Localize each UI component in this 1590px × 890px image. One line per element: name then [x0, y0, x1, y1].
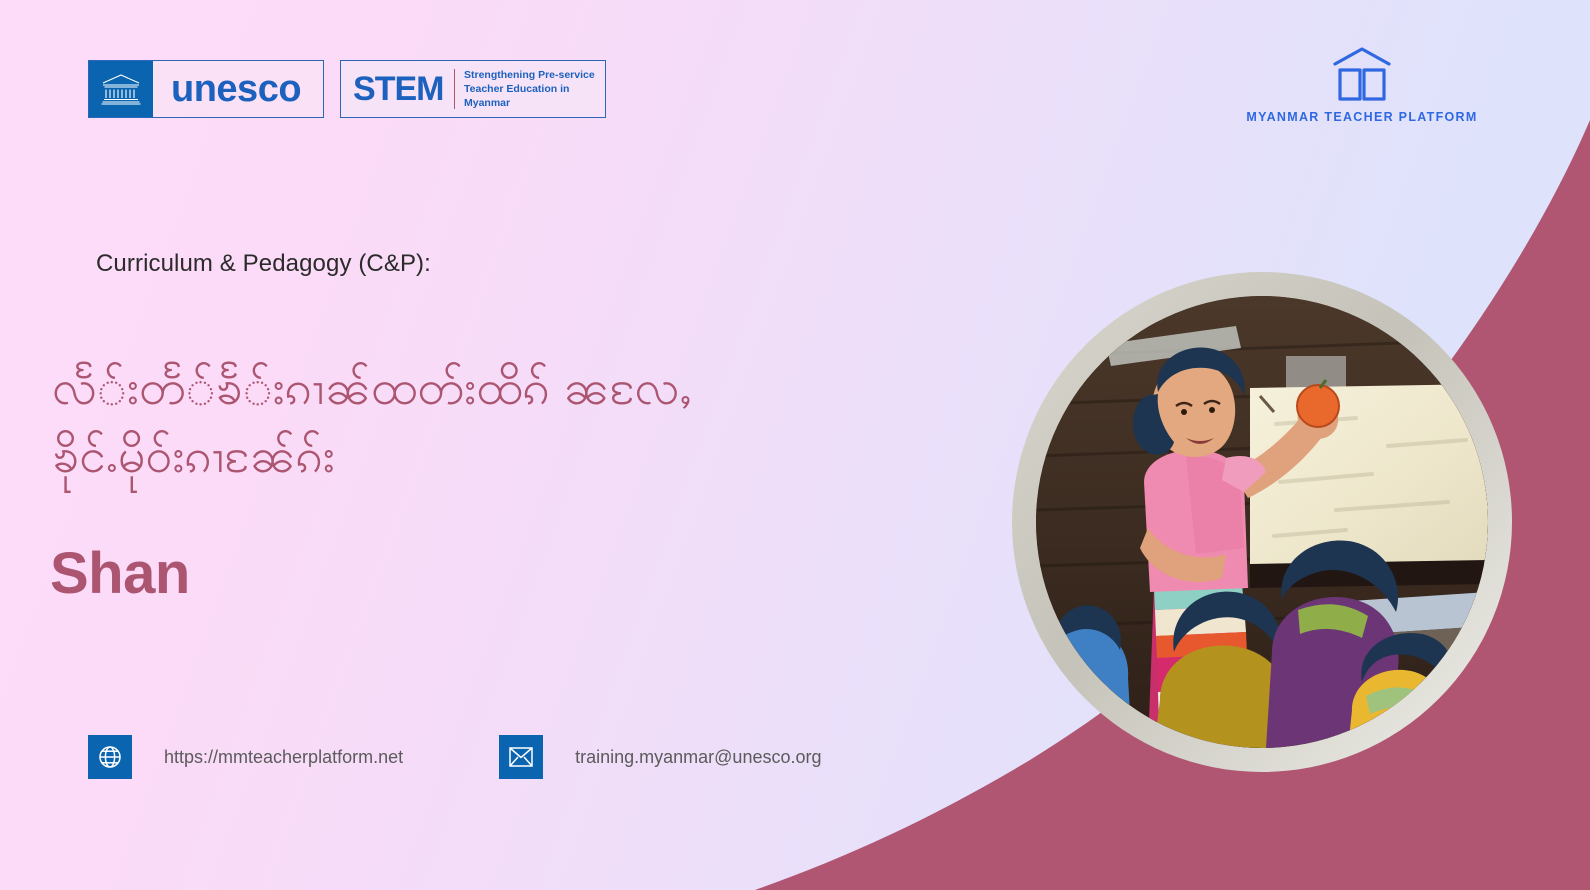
unesco-wordmark: unesco: [153, 61, 323, 117]
stem-tagline-line-1: Strengthening Pre-service: [464, 68, 595, 82]
title-native-line-2: ၶိုင်ႉမိုဝ်းၵၢၼ်ႄၵ်း: [52, 423, 892, 491]
footer-contacts: https://mmteacherplatform.net training.m…: [88, 735, 822, 779]
title-native: လႅ်းတႅ်ၶႅ်းၵၢၼ်ထတ်းထိၵ် ၼလႄႇ ၶိုင်ႉမိုဝ်…: [52, 355, 892, 491]
globe-glyph: [97, 744, 123, 770]
envelope-glyph: [508, 746, 534, 768]
slide-canvas: unesco STEM Strengthening Pre-service Te…: [0, 0, 1590, 890]
contact-website[interactable]: https://mmteacherplatform.net: [88, 735, 403, 779]
classroom-illustration: [1036, 296, 1488, 748]
title-native-line-1: လႅ်းတႅ်ၶႅ်းၵၢၼ်ထတ်းထိၵ် ၼလႄႇ: [52, 355, 892, 423]
envelope-icon: [499, 735, 543, 779]
temple-icon: [100, 72, 142, 106]
stem-divider: [454, 69, 456, 109]
page-title: Shan: [50, 540, 190, 607]
email-address[interactable]: training.myanmar@unesco.org: [575, 747, 821, 768]
stem-tagline: Strengthening Pre-service Teacher Educat…: [464, 68, 595, 111]
stem-tagline-line-3: Myanmar: [464, 96, 595, 110]
website-url[interactable]: https://mmteacherplatform.net: [164, 747, 403, 768]
stem-tagline-line-2: Teacher Education in: [464, 82, 595, 96]
globe-icon: [88, 735, 132, 779]
classroom-scene: [1036, 296, 1488, 748]
logo-row: unesco STEM Strengthening Pre-service Te…: [88, 60, 606, 118]
myanmar-teacher-platform-logo: MYANMAR TEACHER PLATFORM: [1242, 46, 1482, 124]
stem-logo: STEM Strengthening Pre-service Teacher E…: [340, 60, 606, 118]
book-house-icon: [1329, 46, 1395, 104]
photo-ring: [1012, 272, 1512, 772]
stem-wordmark: STEM: [353, 72, 453, 106]
unesco-temple-emblem: [89, 61, 153, 117]
unesco-logo: unesco: [88, 60, 324, 118]
contact-email[interactable]: training.myanmar@unesco.org: [499, 735, 821, 779]
myanmar-teacher-platform-label: MYANMAR TEACHER PLATFORM: [1242, 110, 1482, 124]
subject-eyebrow: Curriculum & Pedagogy (C&P):: [96, 250, 431, 278]
